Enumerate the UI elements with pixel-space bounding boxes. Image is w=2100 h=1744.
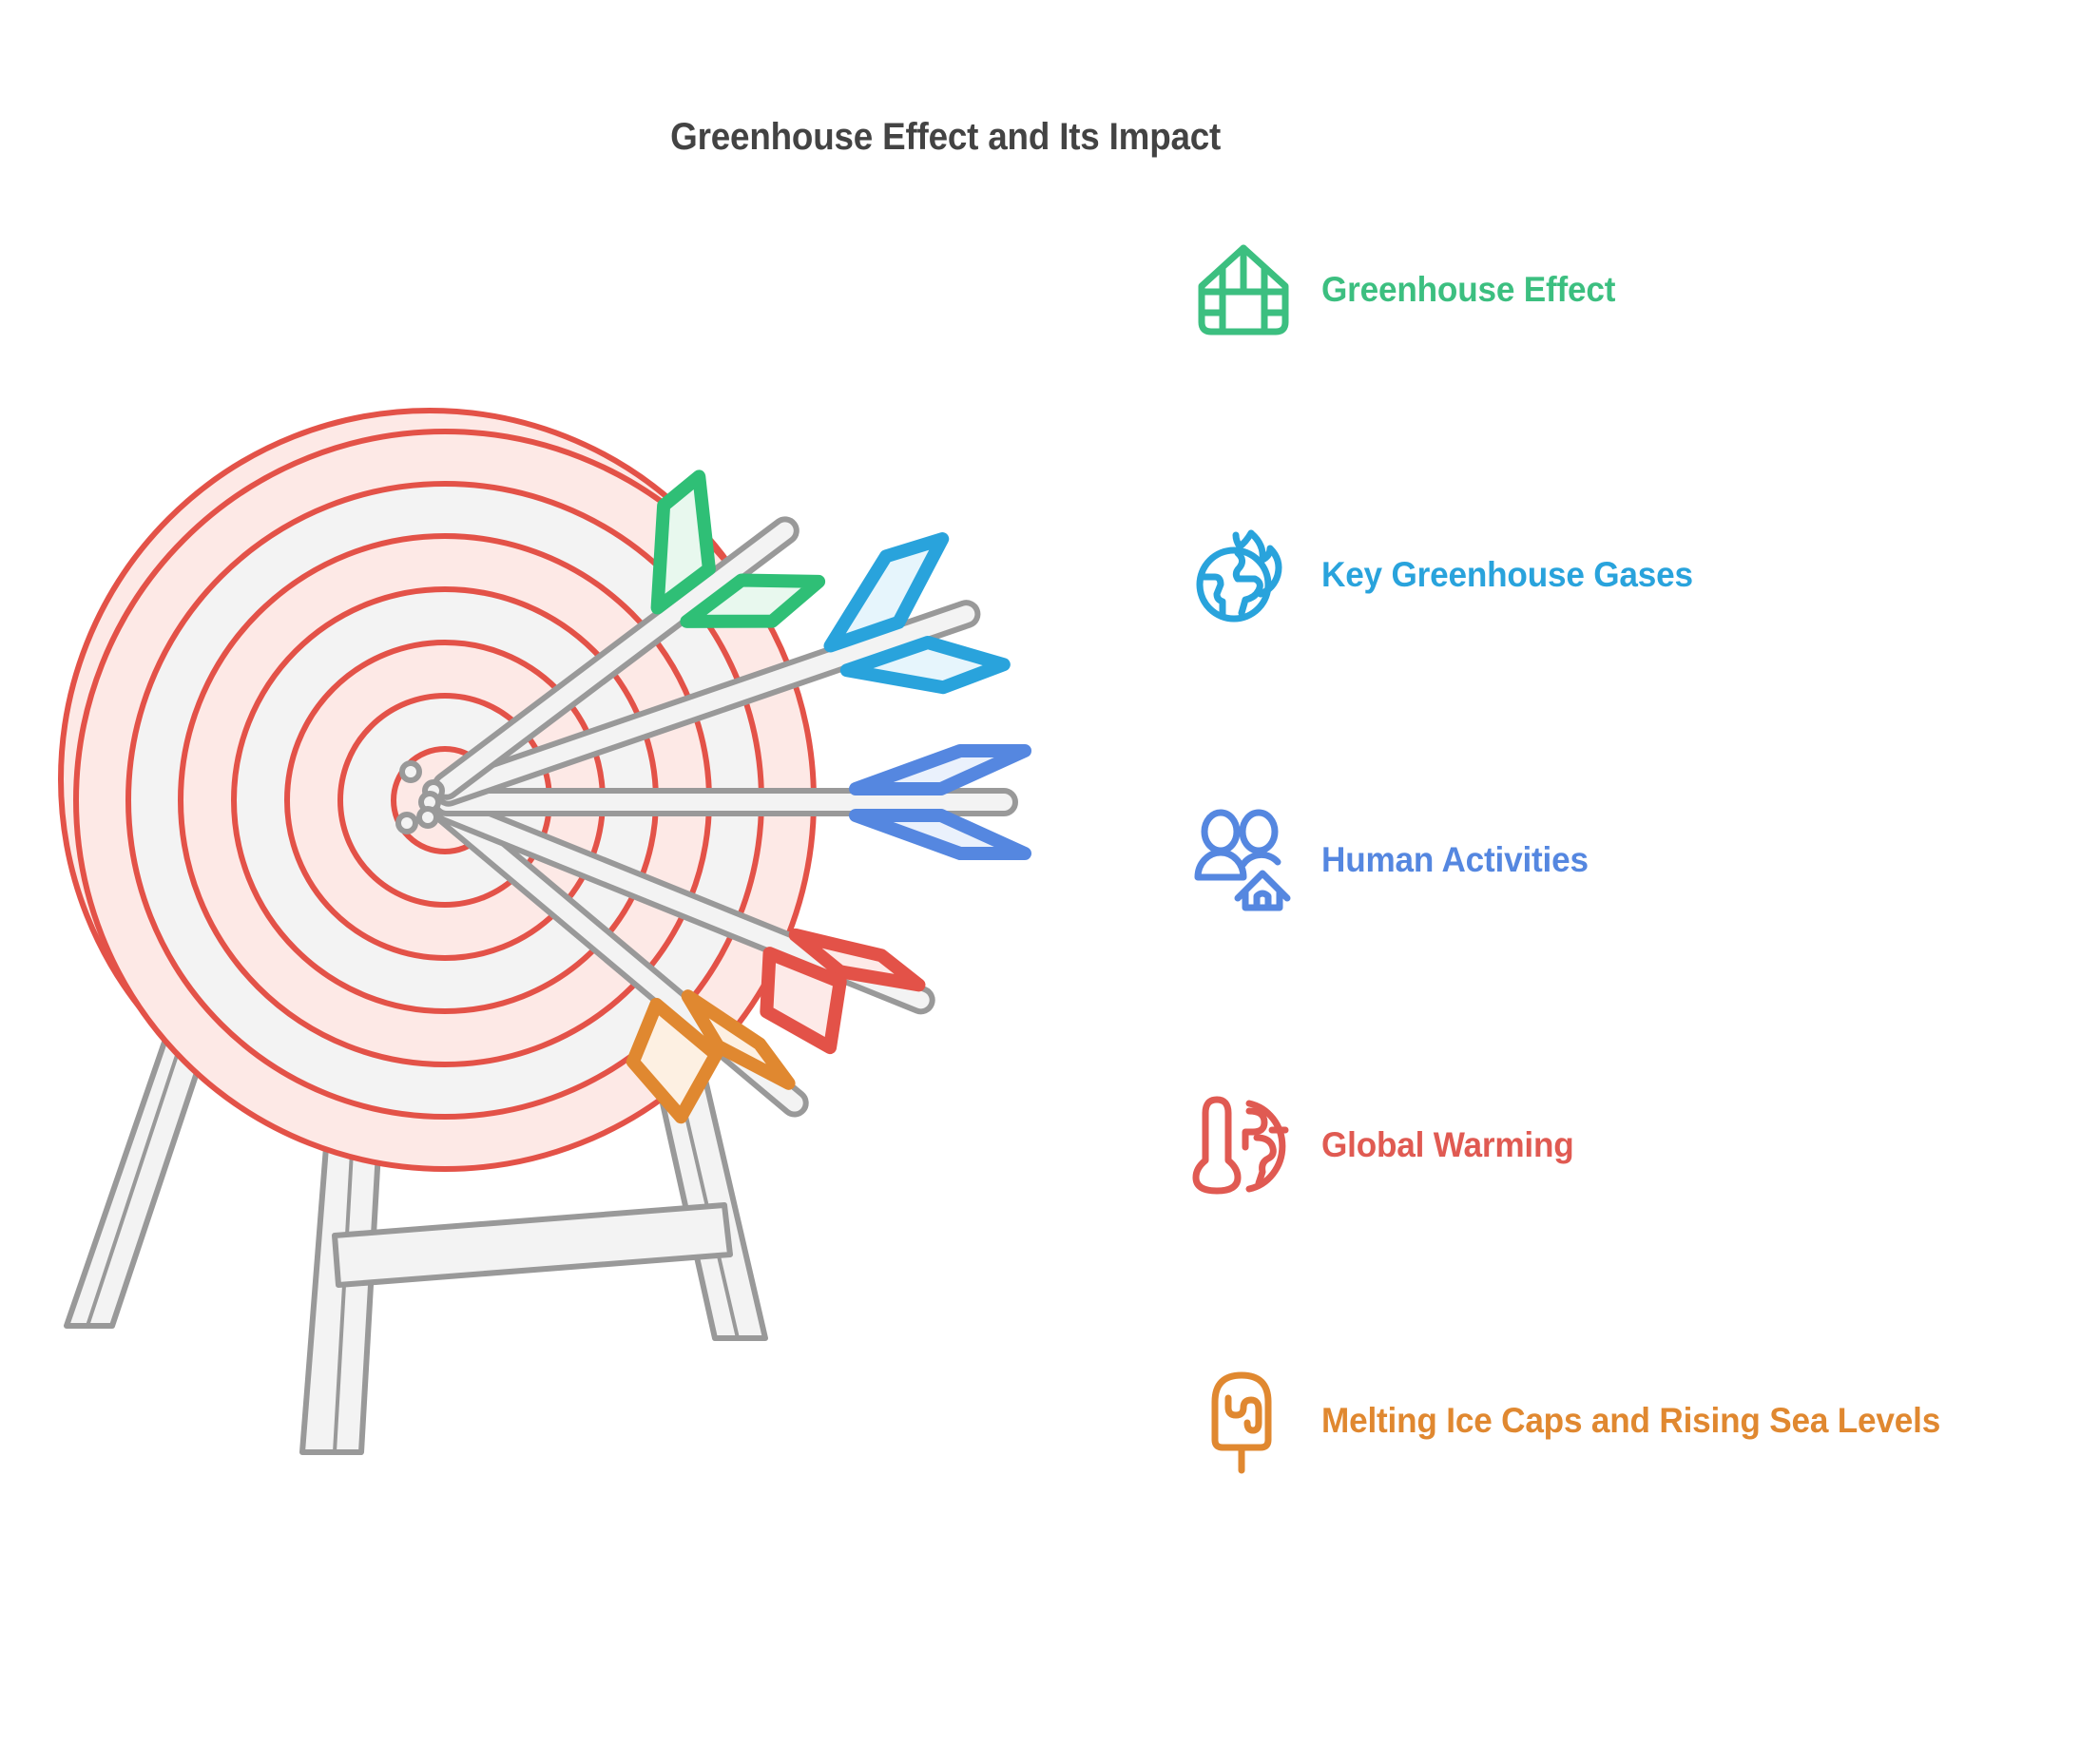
legend-item-label: Global Warming [1321, 1122, 1574, 1167]
page-title-text: Greenhouse Effect and Its Impact [670, 116, 1221, 159]
archery-target-illustration [0, 361, 1179, 1692]
legend-item-global-warming[interactable]: Global Warming [1186, 1074, 1588, 1217]
arrow-blue-fletching-upper [856, 751, 1025, 789]
people-house-icon [1186, 803, 1300, 917]
legend-item-melting-ice-caps[interactable]: Melting Ice Caps and Rising Sea Levels [1186, 1350, 1973, 1492]
legend-list: Greenhouse Effect Key Greenhouse Gases [1186, 219, 2080, 1578]
thermometer-globe-icon [1186, 1088, 1300, 1202]
stand-crossbar [335, 1205, 730, 1285]
page-title: Greenhouse Effect and Its Impact [0, 116, 2100, 159]
globe-flame-icon [1186, 518, 1300, 632]
legend-item-label: Human Activities [1321, 837, 1589, 882]
legend-item-key-greenhouse-gases[interactable]: Key Greenhouse Gases [1186, 504, 1712, 646]
legend-item-label: Key Greenhouse Gases [1321, 552, 1693, 597]
legend-item-human-activities[interactable]: Human Activities [1186, 789, 1603, 931]
arrow-tip-orange [398, 815, 415, 832]
infographic-canvas: Greenhouse Effect and Its Impact [0, 0, 2100, 1744]
arrow-blue-fletching-lower [856, 815, 1025, 853]
legend-item-greenhouse-effect[interactable]: Greenhouse Effect [1186, 219, 1631, 361]
greenhouse-icon [1186, 233, 1300, 347]
legend-item-label: Greenhouse Effect [1321, 267, 1615, 312]
arrow-tip-green [402, 763, 419, 780]
legend-item-label: Melting Ice Caps and Rising Sea Levels [1321, 1398, 1940, 1443]
arrow-tip-red [419, 809, 436, 826]
popsicle-icon [1186, 1364, 1300, 1478]
